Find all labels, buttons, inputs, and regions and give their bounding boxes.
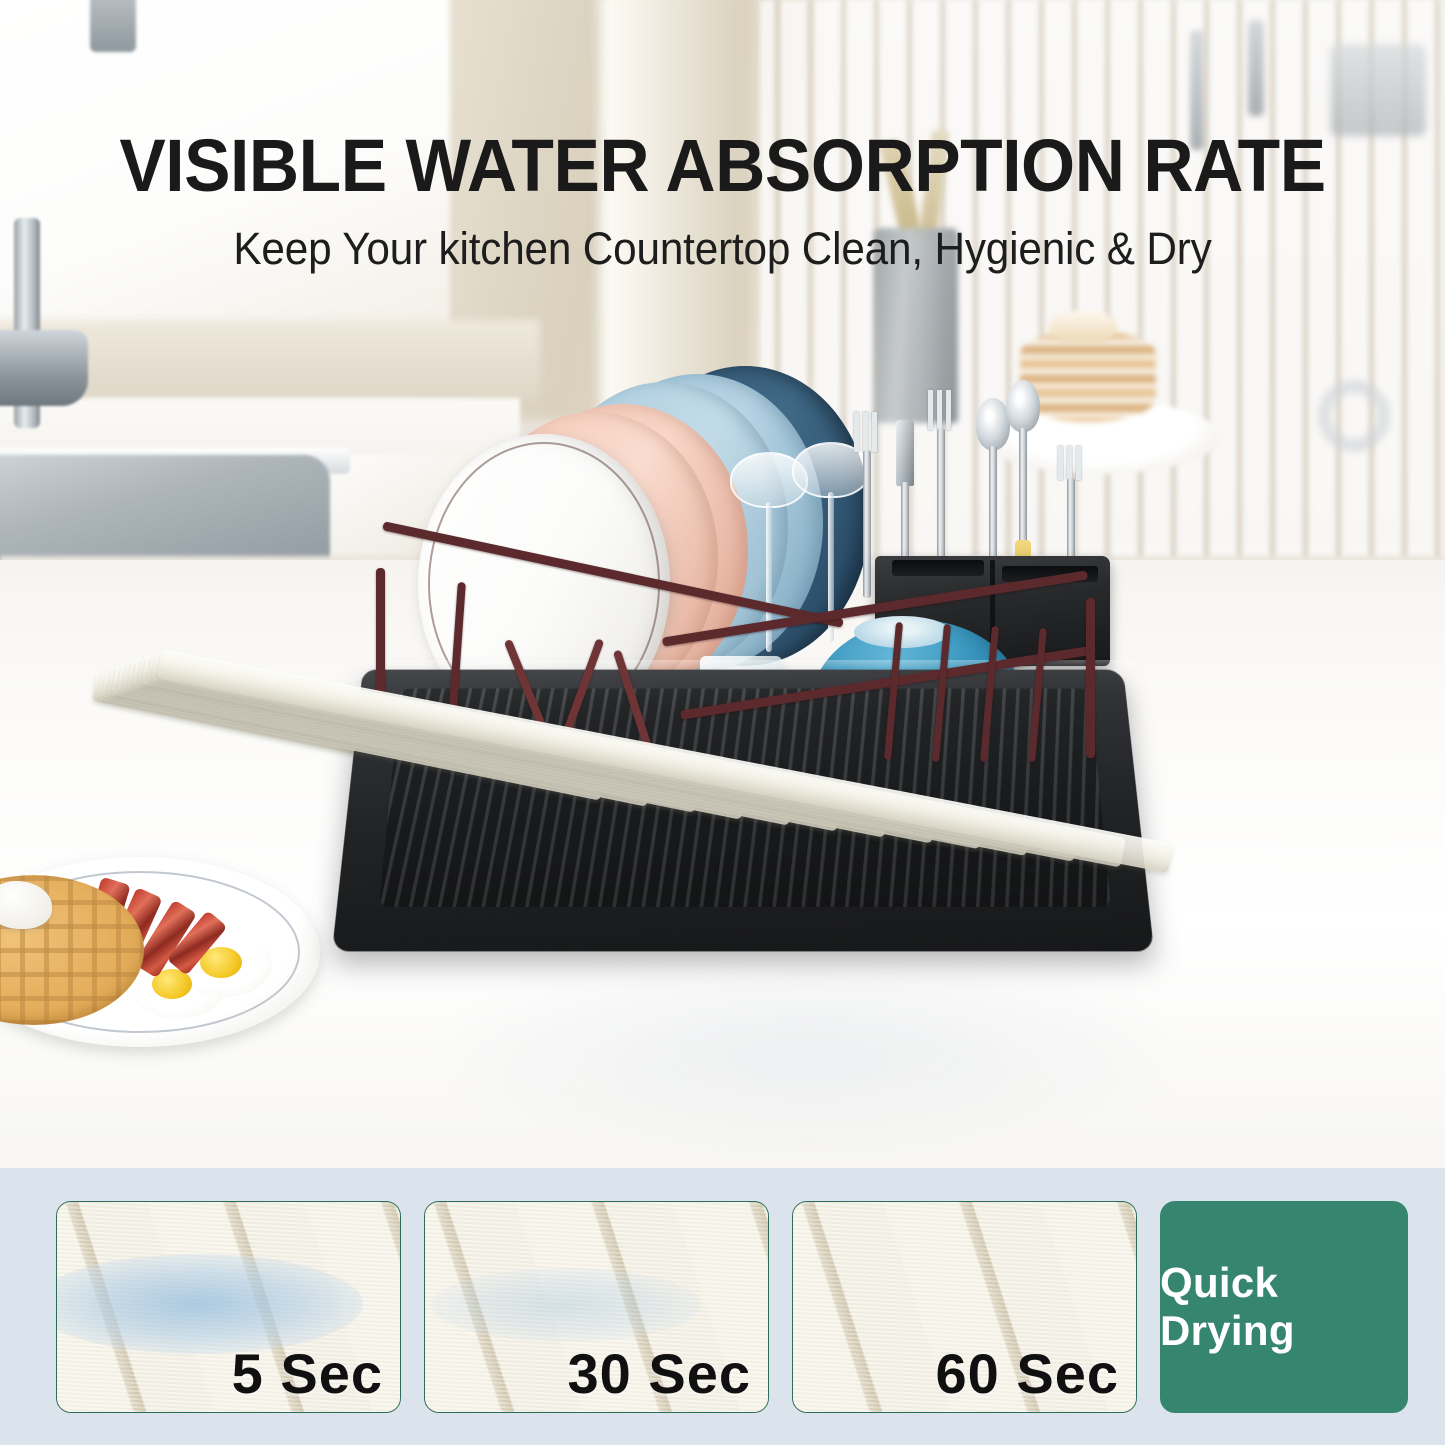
dish-drying-rack <box>330 360 1150 980</box>
absorption-card-row: 5 Sec 30 Sec 60 Sec Quick Drying <box>56 1201 1408 1413</box>
product-marketing-poster: VISIBLE WATER ABSORPTION RATE Keep Your … <box>0 0 1445 1445</box>
breakfast-plate <box>0 845 340 1060</box>
absorption-card-30sec[interactable]: 30 Sec <box>424 1201 769 1413</box>
caddy-slot <box>892 560 984 576</box>
water-spot <box>431 1268 701 1342</box>
wall-jar <box>1330 44 1426 136</box>
absorption-card-label: 5 Sec <box>232 1341 383 1406</box>
absorption-card-60sec[interactable]: 60 Sec <box>792 1201 1137 1413</box>
pancake-topping <box>1048 310 1118 344</box>
page-subtitle: Keep Your kitchen Countertop Clean, Hygi… <box>43 223 1401 275</box>
ladle-icon <box>1318 380 1390 452</box>
quick-drying-label: Quick Drying <box>1160 1259 1408 1355</box>
quick-drying-badge[interactable]: Quick Drying <box>1160 1201 1408 1413</box>
wall-hook-icon <box>1248 20 1264 116</box>
absorption-card-5sec[interactable]: 5 Sec <box>56 1201 401 1413</box>
page-title: VISIBLE WATER ABSORPTION RATE <box>43 128 1401 203</box>
absorption-panel: 5 Sec 30 Sec 60 Sec Quick Drying <box>0 1168 1445 1445</box>
headline-block: VISIBLE WATER ABSORPTION RATE Keep Your … <box>0 128 1445 275</box>
faucet-top <box>90 0 136 52</box>
hero-kitchen-scene: VISIBLE WATER ABSORPTION RATE Keep Your … <box>0 0 1445 1168</box>
absorption-card-label: 60 Sec <box>936 1341 1120 1406</box>
rack-wire-right-post <box>1086 598 1095 758</box>
absorption-card-label: 30 Sec <box>568 1341 752 1406</box>
faucet-head <box>0 330 88 406</box>
